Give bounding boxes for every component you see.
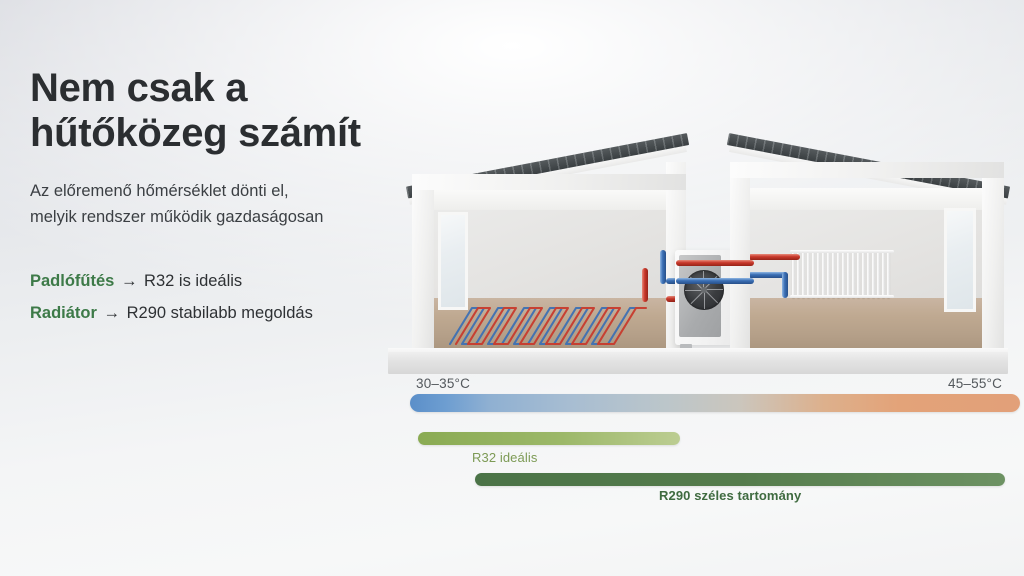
temperature-label-low: 30–35°C bbox=[416, 376, 470, 391]
r32-range-label: R32 ideális bbox=[472, 450, 537, 465]
temperature-label-high: 45–55°C bbox=[948, 376, 1002, 391]
temperature-scale-chart: 30–35°C 45–55°C R32 ideális R290 széles … bbox=[0, 0, 1024, 576]
r290-range-bar bbox=[475, 473, 1005, 486]
infographic-slide: Nem csak a hűtőközeg számít Az előremenő… bbox=[0, 0, 1024, 576]
r32-range-bar bbox=[418, 432, 680, 445]
r290-range-label: R290 széles tartomány bbox=[659, 488, 801, 503]
temperature-gradient-bar bbox=[410, 394, 1020, 412]
